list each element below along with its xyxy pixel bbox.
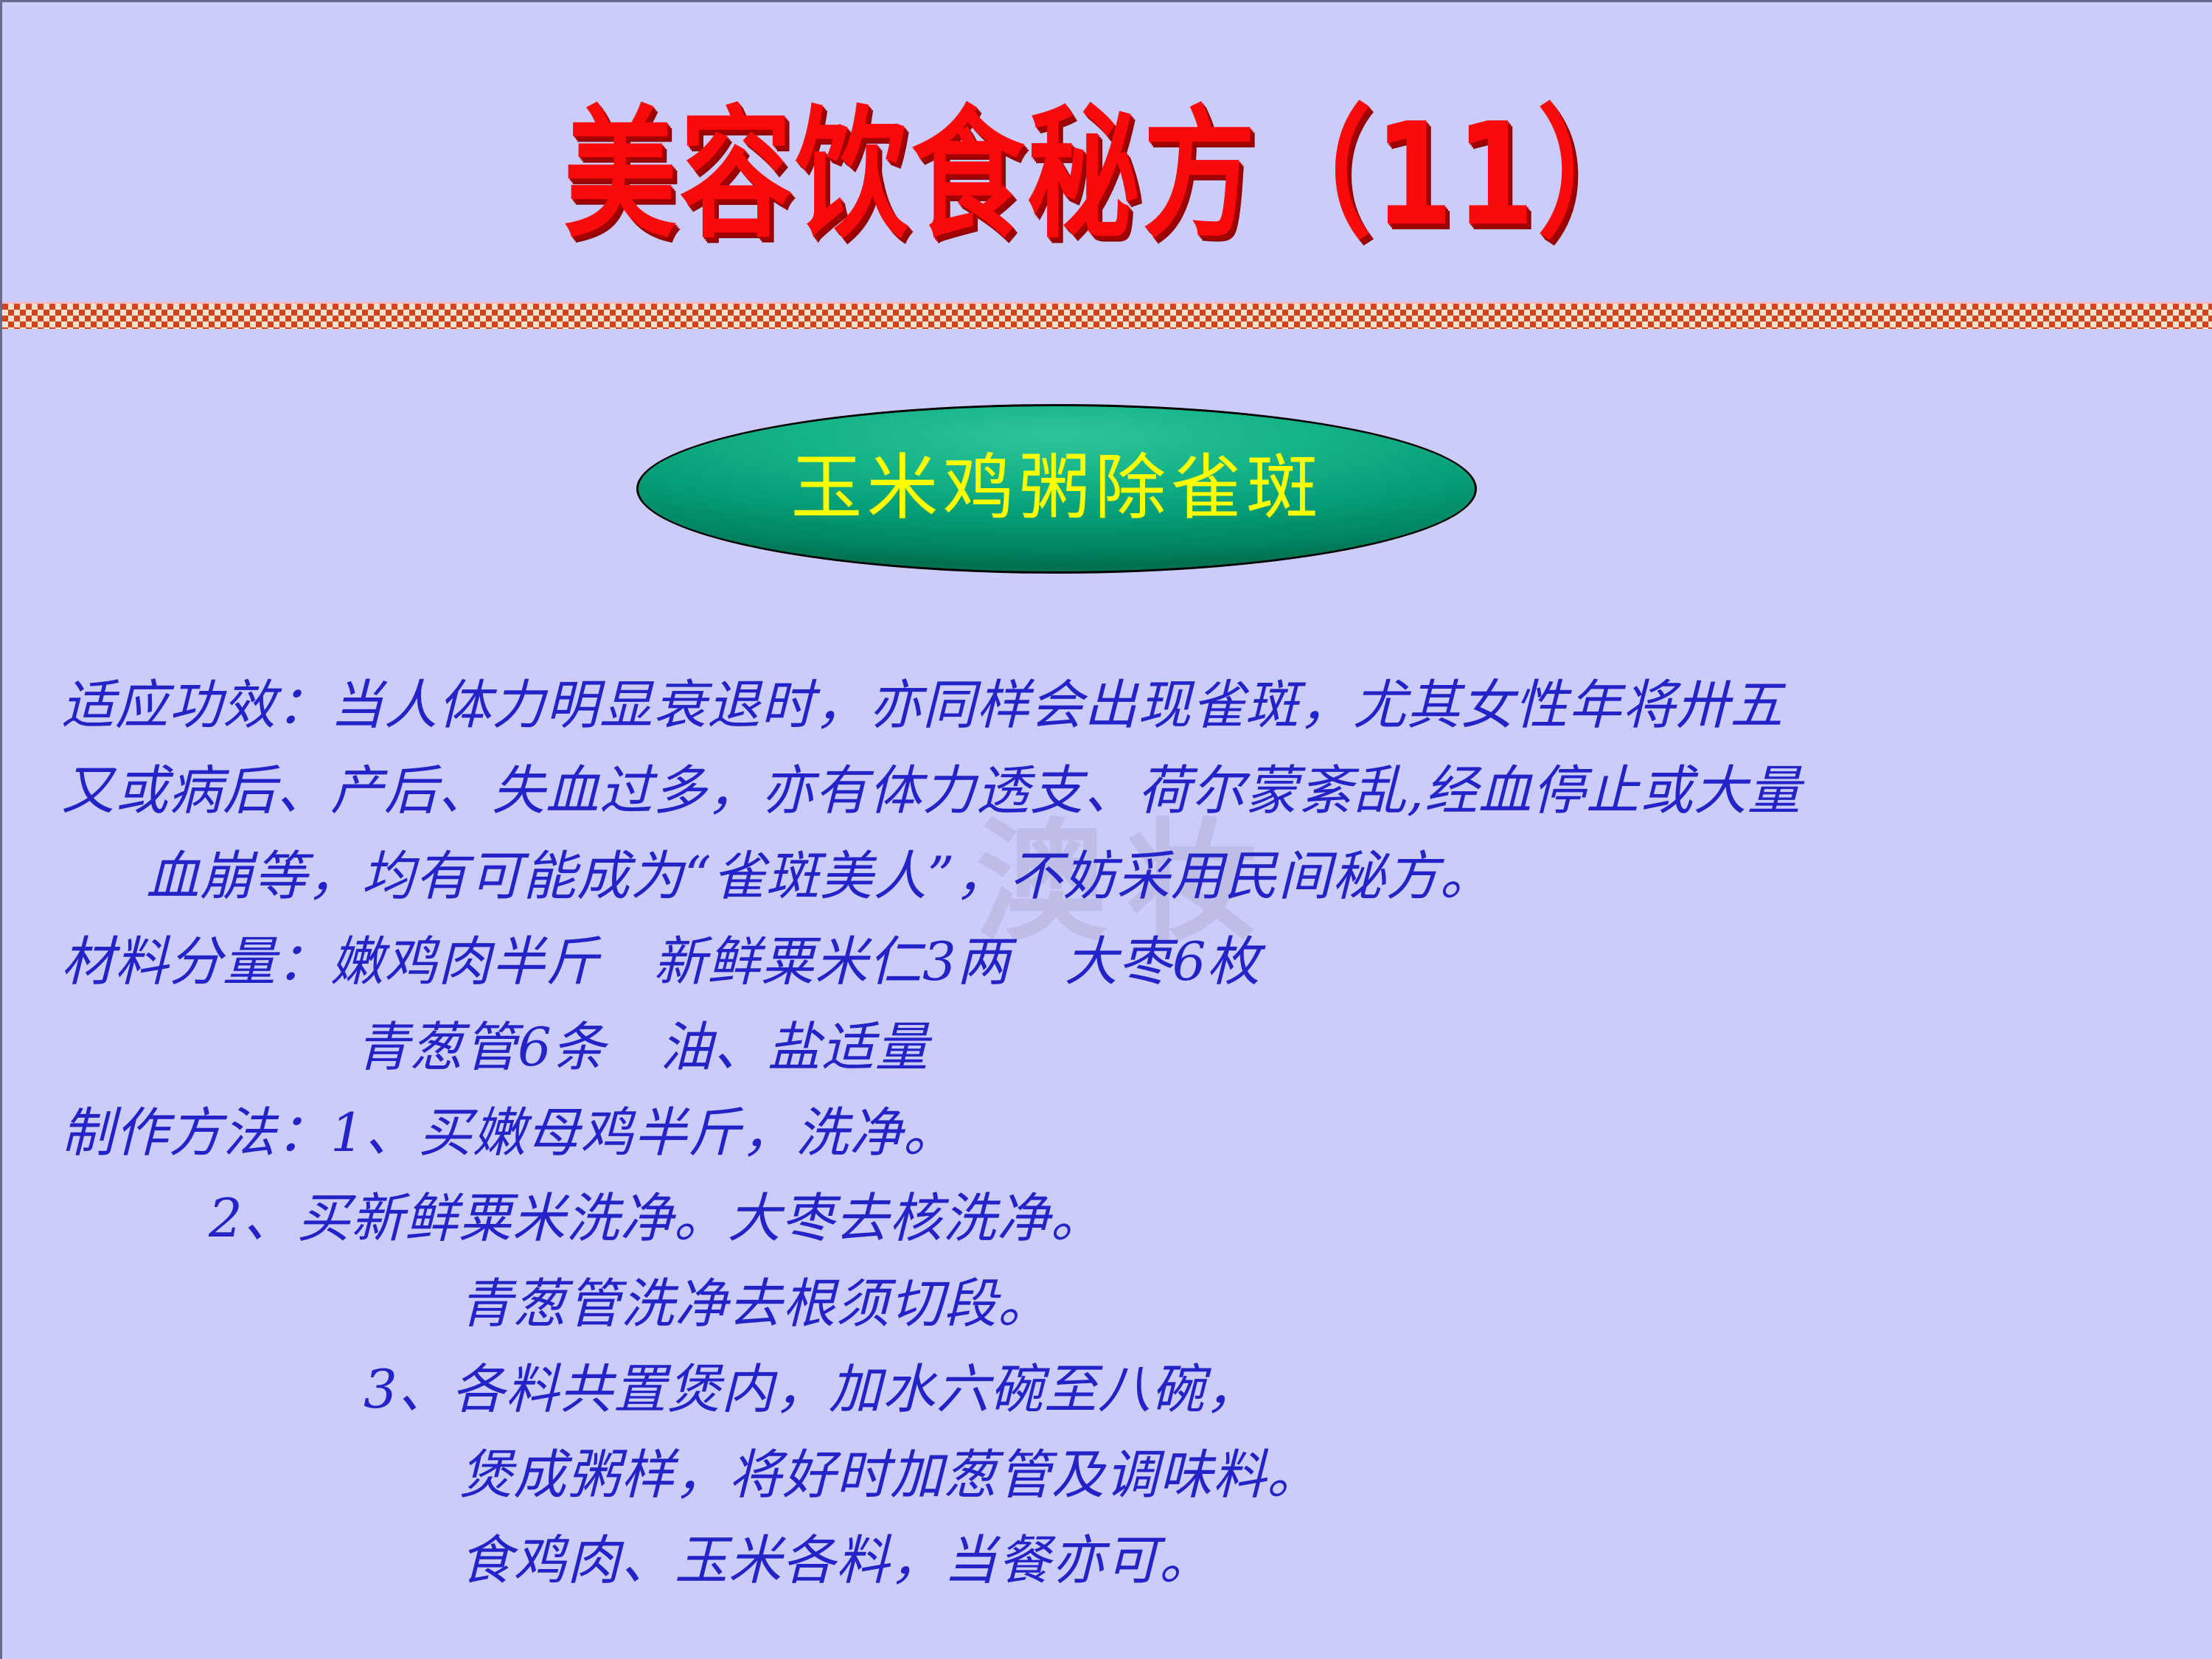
body-line: 青葱管6条 油、盐适量: [2, 1004, 2212, 1090]
recipe-heading-badge: 玉米鸡粥除雀斑: [636, 404, 1477, 574]
body-line: 食鸡肉、玉米各料，当餐亦可。: [2, 1517, 2212, 1603]
body-line: 青葱管洗净去根须切段。: [2, 1261, 2212, 1346]
body-line: 3、各料共置煲内，加水六碗至八碗，: [2, 1346, 2212, 1432]
oval-shape: 玉米鸡粥除雀斑: [636, 404, 1477, 574]
body-line: 适应功效：当人体力明显衰退时，亦同样会出现雀斑，尤其女性年将卅五: [2, 662, 2212, 748]
slide-canvas: 美容饮食秘方（11） 玉米鸡粥除雀斑 澳妆 适应功效：当人体力明显衰退时，亦同样…: [0, 0, 2212, 1659]
recipe-heading-label: 玉米鸡粥除雀斑: [791, 452, 1323, 524]
body-line: 制作方法：1、买嫩母鸡半斤，洗净。: [2, 1090, 2212, 1175]
body-line: 血崩等，均有可能成为“雀斑美人”，不妨采用民间秘方。: [2, 833, 2212, 919]
body-line: 2、买新鲜粟米洗净。大枣去核洗净。: [2, 1175, 2212, 1261]
decorative-divider: [2, 302, 2212, 329]
page-title: 美容饮食秘方（11）: [563, 105, 1653, 246]
body-line: 又或病后、产后、失血过多，亦有体力透支、荷尔蒙紊乱,经血停止或大量: [2, 748, 2212, 833]
body-line: 材料分量：嫩鸡肉半斤 新鲜粟米仁3两 大枣6枚: [2, 919, 2212, 1004]
body-text-block: 适应功效：当人体力明显衰退时，亦同样会出现雀斑，尤其女性年将卅五 又或病后、产后…: [2, 662, 2212, 1603]
title-area: 美容饮食秘方（11）: [2, 91, 2212, 260]
body-line: 煲成粥样，将好时加葱管及调味料。: [2, 1432, 2212, 1517]
